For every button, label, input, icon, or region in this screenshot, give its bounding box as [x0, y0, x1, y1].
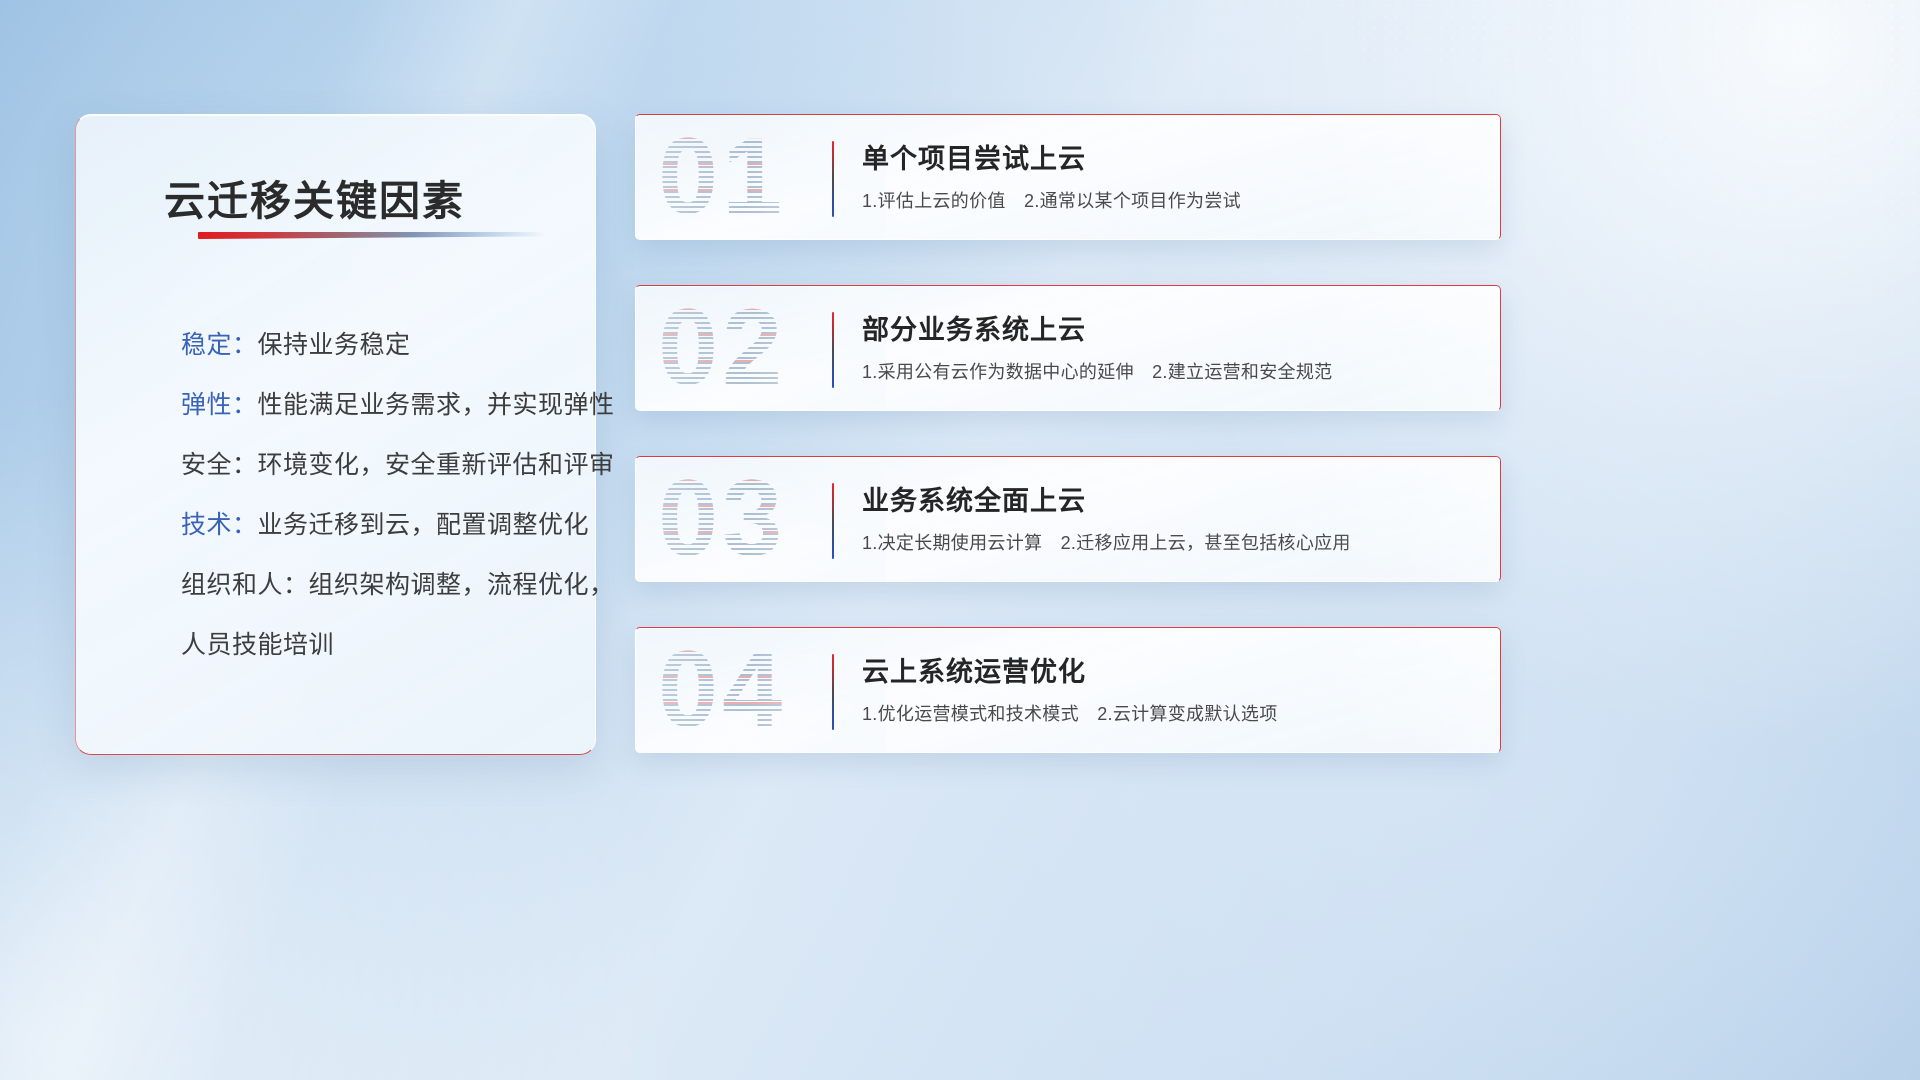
card-divider-bar — [832, 654, 834, 730]
page-title: 云迁移关键因素 — [164, 167, 465, 227]
list-item-text: 人员技能培训 — [181, 631, 334, 659]
card-heading: 云上系统运营优化 — [862, 650, 1086, 689]
card-heading: 单个项目尝试上云 — [862, 137, 1086, 176]
list-item: 技术：业务迁移到云，配置调整优化 — [181, 495, 581, 555]
card-subtext: 1.决定长期使用云计算 2.迁移应用上云，甚至包括核心应用 — [862, 529, 1351, 555]
card-subtext: 1.评估上云的价值 2.通常以某个项目作为尝试 — [862, 187, 1241, 213]
card-subtext: 1.优化运营模式和技术模式 2.云计算变成默认选项 — [862, 700, 1278, 726]
list-item-key: 技术： — [181, 511, 258, 539]
list-item-text: 保持业务稳定 — [258, 331, 411, 359]
card-divider-bar — [832, 483, 834, 559]
stage-card-04[interactable]: 04 04 云上系统运营优化 1.优化运营模式和技术模式 2.云计算变成默认选项 — [635, 627, 1501, 753]
stage-number-watermark-accent: 03 — [658, 456, 786, 582]
key-factors-panel: 云迁移关键因素 稳定：保持业务稳定 弹性：性能满足业务需求，并实现弹性 安全：环… — [75, 114, 596, 755]
list-item-text: 组织架构调整，流程优化， — [309, 571, 615, 599]
stage-number-watermark-accent: 02 — [658, 285, 786, 411]
slide-stage: 云迁移关键因素 稳定：保持业务稳定 弹性：性能满足业务需求，并实现弹性 安全：环… — [0, 0, 1920, 1080]
stage-card-01[interactable]: 01 01 单个项目尝试上云 1.评估上云的价值 2.通常以某个项目作为尝试 — [635, 114, 1501, 240]
stage-card-02[interactable]: 02 02 部分业务系统上云 1.采用公有云作为数据中心的延伸 2.建立运营和安… — [635, 285, 1501, 411]
list-item: 组织和人：组织架构调整，流程优化， — [181, 555, 581, 615]
key-factors-list: 稳定：保持业务稳定 弹性：性能满足业务需求，并实现弹性 安全：环境变化，安全重新… — [181, 315, 581, 675]
list-item-text: 环境变化，安全重新评估和评审 — [258, 451, 615, 479]
card-heading: 业务系统全面上云 — [862, 479, 1086, 518]
list-item-text: 业务迁移到云，配置调整优化 — [258, 511, 590, 539]
list-item-key: 弹性： — [181, 391, 258, 419]
list-item-key: 安全： — [181, 451, 258, 479]
stage-number-watermark-accent: 04 — [658, 627, 786, 753]
title-underline-rule — [198, 232, 546, 239]
list-item-key: 组织和人： — [181, 571, 309, 599]
card-heading: 部分业务系统上云 — [862, 308, 1086, 347]
list-item-key: 稳定： — [181, 331, 258, 359]
card-divider-bar — [832, 141, 834, 217]
list-item: 稳定：保持业务稳定 — [181, 315, 581, 375]
list-item-text: 性能满足业务需求，并实现弹性 — [258, 391, 615, 419]
stage-number-watermark-accent: 01 — [658, 114, 786, 240]
card-divider-bar — [832, 312, 834, 388]
list-item-continuation: 人员技能培训 — [181, 615, 581, 675]
list-item: 安全：环境变化，安全重新评估和评审 — [181, 435, 581, 495]
card-subtext: 1.采用公有云作为数据中心的延伸 2.建立运营和安全规范 — [862, 358, 1332, 384]
list-item: 弹性：性能满足业务需求，并实现弹性 — [181, 375, 581, 435]
stage-card-03[interactable]: 03 03 业务系统全面上云 1.决定长期使用云计算 2.迁移应用上云，甚至包括… — [635, 456, 1501, 582]
